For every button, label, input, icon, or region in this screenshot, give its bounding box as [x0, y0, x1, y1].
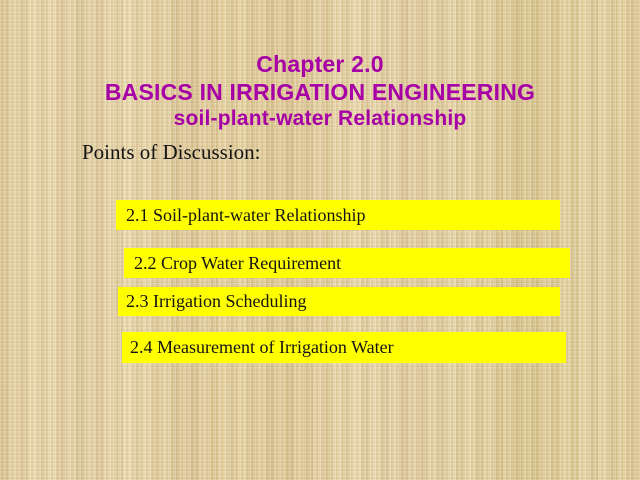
slide-title-block: Chapter 2.0 BASICS IN IRRIGATION ENGINEE…	[0, 50, 640, 132]
discussion-item-4: 2.4 Measurement of Irrigation Water	[122, 332, 566, 363]
discussion-item-1: 2.1 Soil-plant-water Relationship	[116, 200, 560, 230]
discussion-item-3: 2.3 Irrigation Scheduling	[118, 287, 560, 316]
presentation-slide: Chapter 2.0 BASICS IN IRRIGATION ENGINEE…	[0, 0, 640, 480]
points-of-discussion-label: Points of Discussion:	[82, 140, 261, 165]
title-line-topic: soil-plant-water Relationship	[0, 106, 640, 132]
title-line-subject: BASICS IN IRRIGATION ENGINEERING	[0, 78, 640, 106]
title-line-chapter: Chapter 2.0	[0, 50, 640, 78]
discussion-item-2: 2.2 Crop Water Requirement	[124, 248, 570, 278]
